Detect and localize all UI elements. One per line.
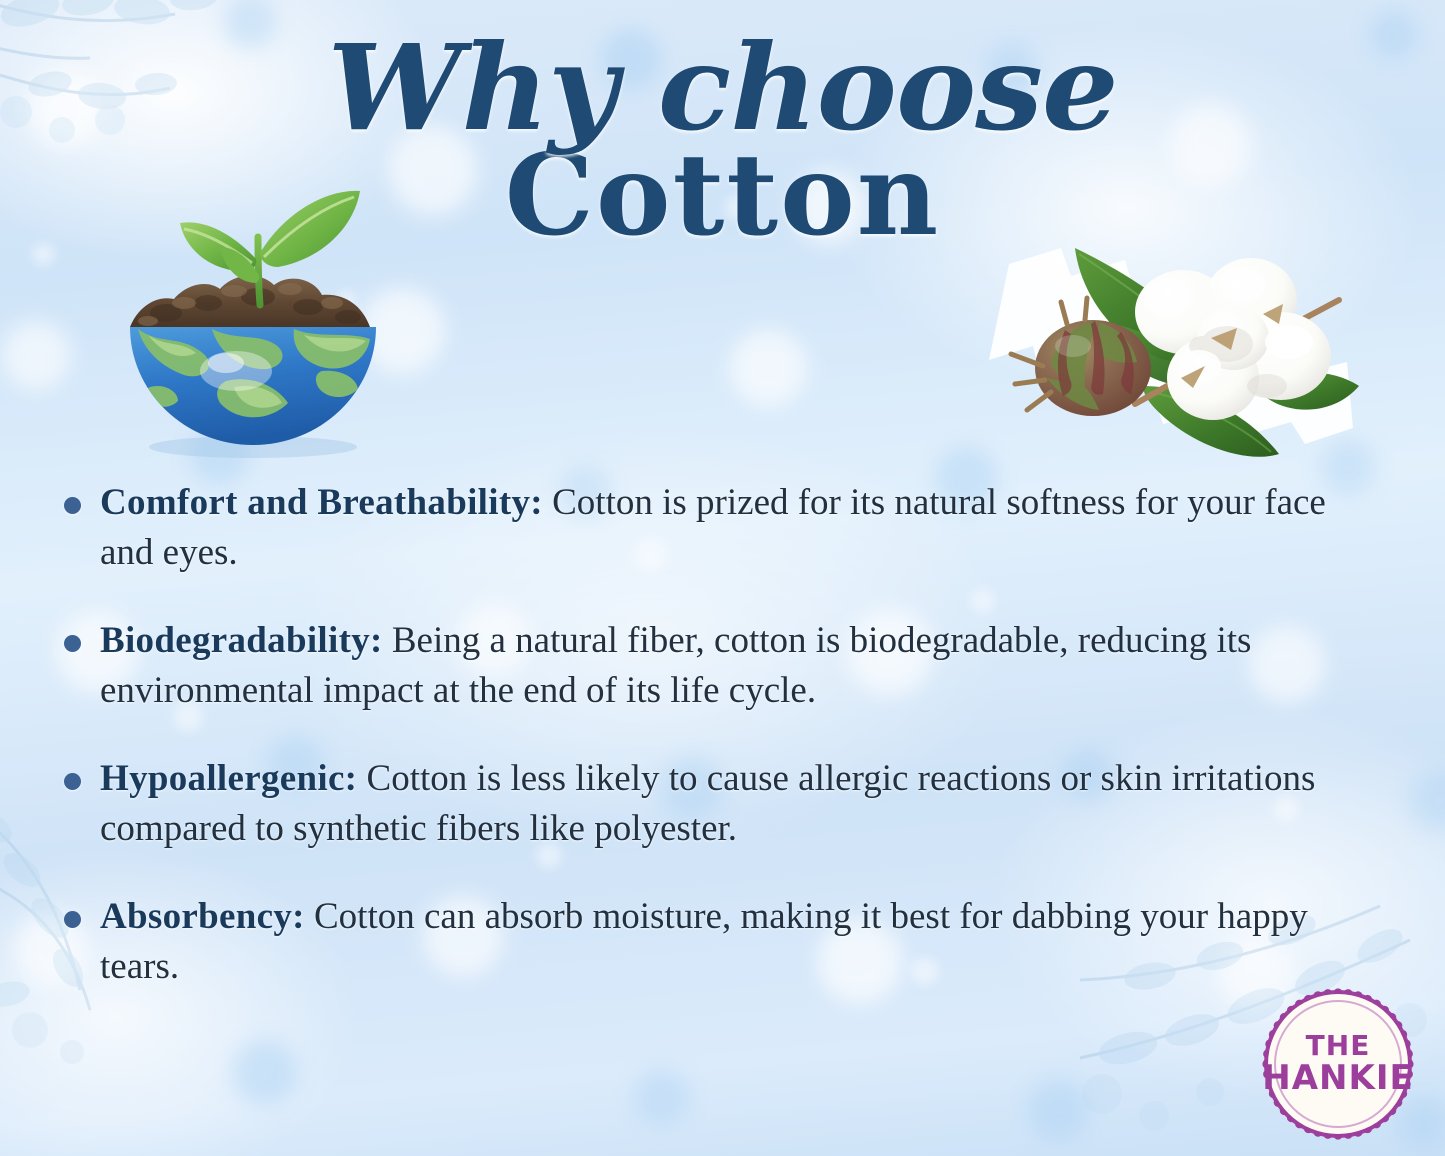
bullet-dot-icon xyxy=(64,773,81,790)
list-item-heading: Biodegradability: xyxy=(100,620,383,661)
list-item: Biodegradability: Being a natural fiber,… xyxy=(48,616,1358,716)
brand-logo-badge[interactable]: THE HANKIE xyxy=(1258,984,1418,1144)
benefits-list: Comfort and Breathability: Cotton is pri… xyxy=(48,478,1358,992)
list-item: Absorbency: Cotton can absorb moisture, … xyxy=(48,892,1358,992)
list-item-heading: Absorbency: xyxy=(100,896,305,937)
list-item: Comfort and Breathability: Cotton is pri… xyxy=(48,478,1358,578)
earth-bowl-with-seedling-icon xyxy=(108,175,398,465)
bullet-dot-icon xyxy=(64,497,81,514)
botanical-sprig-top-left-icon xyxy=(0,0,290,200)
list-item-heading: Comfort and Breathability: xyxy=(100,482,543,523)
cotton-boll-with-leaves-icon xyxy=(975,238,1365,471)
list-item-heading: Hypoallergenic: xyxy=(100,758,357,799)
bullet-dot-icon xyxy=(64,635,81,652)
list-item: Hypoallergenic: Cotton is less likely to… xyxy=(48,754,1358,854)
poster-canvas: Why choose Cotton xyxy=(0,0,1445,1156)
scalloped-badge-icon xyxy=(1258,984,1418,1144)
bullet-dot-icon xyxy=(64,911,81,928)
